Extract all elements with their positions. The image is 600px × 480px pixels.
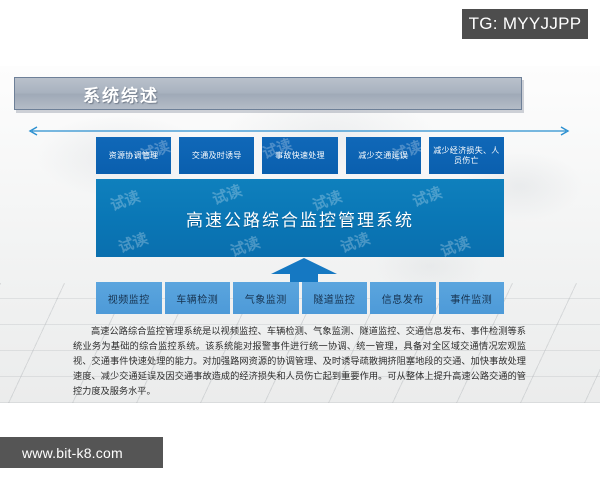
subsystem-box[interactable]: 车辆检测 <box>165 282 231 314</box>
upward-flow-arrow <box>270 257 338 283</box>
double-arrow-divider <box>24 123 574 133</box>
subsystem-box[interactable]: 气象监测 <box>233 282 299 314</box>
tg-watermark-badge: TG: MYYJJPP <box>462 9 588 39</box>
goal-box[interactable]: 减少经济损失、人员伤亡 <box>429 137 504 174</box>
footer-url-bar[interactable]: www.bit-k8.com <box>0 437 163 468</box>
slide-title-bar: 系统综述 <box>14 77 522 110</box>
subsystem-box[interactable]: 事件监测 <box>439 282 505 314</box>
goal-box[interactable]: 交通及时诱导 <box>179 137 254 174</box>
subsystem-box[interactable]: 视频监控 <box>96 282 162 314</box>
presentation-slide: 系统综述 资源协调管理 交通及时诱导 事故快速处理 减少交通延误 减少经济损失、… <box>0 66 600 403</box>
goal-box-row: 资源协调管理 交通及时诱导 事故快速处理 减少交通延误 减少经济损失、人员伤亡 <box>96 137 504 174</box>
goal-box[interactable]: 事故快速处理 <box>262 137 337 174</box>
system-center-label: 高速公路综合监控管理系统 <box>186 206 414 231</box>
subsystem-box[interactable]: 隧道监控 <box>302 282 368 314</box>
slide-viewer: TG: MYYJJPP 系统综述 资源协调管理 交通及时诱导 事故快速处理 减少… <box>0 0 600 480</box>
goal-box[interactable]: 减少交通延误 <box>346 137 421 174</box>
subsystem-box-row: 视频监控 车辆检测 气象监测 隧道监控 信息发布 事件监测 <box>96 282 504 314</box>
goal-box[interactable]: 资源协调管理 <box>96 137 171 174</box>
slide-title: 系统综述 <box>83 81 159 106</box>
slide-body-paragraph: 高速公路综合监控管理系统是以视频监控、车辆检测、气象监测、隧道监控、交通信息发布… <box>73 325 526 400</box>
double-arrow-icon <box>24 126 574 136</box>
arrow-up-icon <box>270 257 338 283</box>
system-center-box[interactable]: 高速公路综合监控管理系统 <box>96 179 504 257</box>
subsystem-box[interactable]: 信息发布 <box>370 282 436 314</box>
